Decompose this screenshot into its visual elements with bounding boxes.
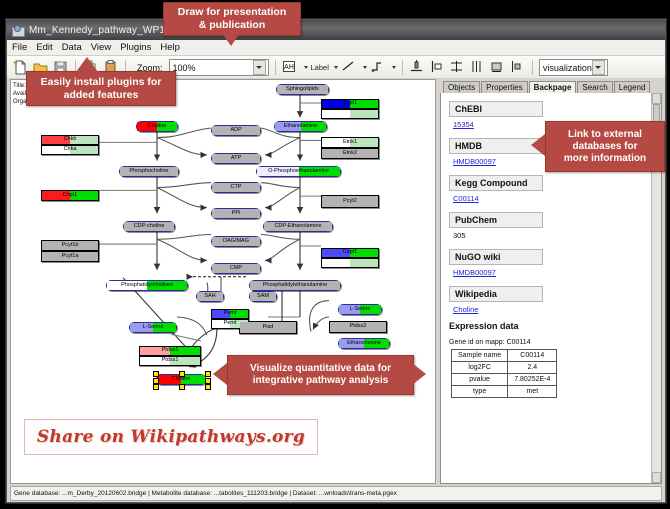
node-label: O-Phosphoethanolamine: [268, 169, 329, 175]
statusbar-text: Gene database: ...m_Derby_20120602.bridg…: [14, 490, 397, 497]
backpage-value: 305: [453, 231, 651, 240]
selection-handle-6[interactable]: [179, 384, 185, 390]
node-label: L-Serine: [143, 325, 164, 331]
gene-node-chkb[interactable]: Chkb: [41, 135, 99, 145]
statusbar: Gene database: ...m_Derby_20120602.bridg…: [7, 485, 665, 502]
selection-handle-3[interactable]: [153, 378, 159, 384]
align-top-icon[interactable]: [409, 59, 426, 76]
metabolite-node-ptd-cholines[interactable]: Phosphatidylcholines: [106, 280, 188, 291]
statusbar-inner: Gene database: ...m_Derby_20120602.bridg…: [10, 486, 662, 501]
metabolite-node-cdp-eth[interactable]: CDP-Ethanolamine: [263, 221, 333, 232]
callout-visualize-arrow: [213, 363, 227, 385]
callout-visualize: Visualize quantitative data for integrat…: [227, 355, 414, 395]
node-label: Chpt1: [63, 193, 78, 199]
expression-value: 7.80252E-4: [508, 374, 557, 386]
chevron-down-icon[interactable]: [363, 66, 367, 69]
backpage-section-pubchem: PubChem305: [449, 210, 651, 240]
callout-visualize-arrow-right: [412, 363, 426, 385]
distribute-vertical-icon[interactable]: [449, 59, 466, 76]
node-label: Sgpl1: [343, 101, 357, 107]
node-label: ADP: [230, 128, 241, 134]
node-half-right: [350, 259, 378, 267]
node-label: Ptdss2: [350, 324, 367, 330]
share-banner-text: Share on Wikipathways.org: [37, 427, 305, 447]
selection-handle-0[interactable]: [153, 371, 159, 377]
metabolite-node-adp[interactable]: ADP: [211, 125, 261, 136]
app-icon: [11, 24, 24, 37]
node-label: PPi: [232, 211, 241, 217]
distribute-horizontal-icon[interactable]: [469, 59, 486, 76]
callout-plugins-arrow: [76, 57, 98, 72]
menu-item-file[interactable]: File: [12, 42, 27, 53]
backpage-section-nugo-wiki: NuGO wikiHMDB00097: [449, 247, 651, 277]
node-label: Ethanolamine: [284, 124, 318, 130]
svg-text:AH: AH: [283, 63, 293, 71]
node-half-left: [322, 259, 350, 267]
callout-draw-arrow: [222, 33, 240, 46]
menu-item-edit[interactable]: Edit: [36, 42, 52, 53]
callout-link-line1: Link to external: [568, 129, 642, 141]
expression-data-heading: Expression data: [449, 321, 651, 331]
metabolite-node-ctp[interactable]: CTP: [211, 182, 261, 193]
chevron-down-icon[interactable]: [304, 66, 308, 69]
metabolite-node-ptd-eth[interactable]: Phosphatidylethanolamine: [249, 280, 341, 291]
node-label: Pemt: [224, 311, 237, 317]
share-banner: Share on Wikipathways.org: [24, 419, 318, 455]
menu-item-help[interactable]: Help: [160, 42, 180, 53]
node-label: CTP: [231, 185, 242, 191]
label-tool-label[interactable]: Label: [311, 63, 329, 72]
metabolite-node-phosphocholine[interactable]: Phosphocholine: [119, 166, 179, 177]
table-row: log2FC2.4: [452, 362, 557, 374]
metabolite-node-cmp[interactable]: CMP: [211, 263, 261, 274]
selection-handle-7[interactable]: [205, 384, 211, 390]
screenshot-root: Mm_Kennedy_pathway_WP1771_45176.gpml Fil…: [0, 0, 670, 509]
menu-item-data[interactable]: Data: [62, 42, 82, 53]
visualization-combo[interactable]: visualization: [539, 59, 608, 76]
gene-node-sgpl1[interactable]: Sgpl1: [321, 99, 379, 109]
gene-node-chka[interactable]: Chka: [41, 145, 99, 155]
node-label: SAH: [204, 294, 215, 300]
selection-handle-2[interactable]: [205, 371, 211, 377]
gene-node-pcyt2[interactable]: Pcyt2: [321, 195, 379, 208]
metabolite-node-sphingolipids[interactable]: Sphingolipids: [276, 84, 329, 95]
toolbar-separator: [532, 60, 533, 75]
node-label: CDP-Ethanolamine: [274, 224, 321, 230]
callout-plugins: Easily install plugins for added feature…: [26, 71, 176, 106]
gene-node-ptdss1[interactable]: Ptdss1: [139, 346, 201, 356]
callout-draw: Draw for presentation & publication: [163, 2, 301, 36]
node-label: Phosphatidylcholines: [121, 283, 173, 289]
chevron-down-icon[interactable]: [592, 60, 605, 75]
table-row: Sample nameC00114: [452, 350, 557, 362]
node-label: L-Serine: [350, 307, 371, 313]
node-label: Pisd: [263, 325, 274, 331]
tab-objects[interactable]: Objects: [443, 81, 480, 93]
gene-node-pcyt1a[interactable]: Pcyt1a: [41, 251, 99, 262]
gene-node-etnk1[interactable]: Etnk1: [321, 137, 379, 148]
expression-key: log2FC: [452, 362, 508, 374]
gene-node-cept1[interactable]: Cept1: [321, 248, 379, 258]
gene-node-pemt[interactable]: Pemt: [211, 309, 249, 319]
node-label: Phosphatidylethanolamine: [263, 283, 328, 289]
backpage-section-kegg-compound: Kegg CompoundC00114: [449, 173, 651, 203]
node-label: Etnk2: [343, 151, 357, 157]
node-label: Pcyt1b: [62, 243, 79, 249]
gene-node-pisd[interactable]: Pisd: [239, 321, 297, 334]
selection-handle-5[interactable]: [153, 384, 159, 390]
chevron-down-icon[interactable]: [392, 66, 396, 69]
gene-node-ptdss2[interactable]: Ptdss2: [329, 321, 387, 333]
callout-link-line2: databases for: [572, 141, 637, 153]
gene-node-sgpl1b[interactable]: [321, 109, 379, 119]
gene-node-ptdss1b[interactable]: Ptdss1: [139, 356, 201, 366]
node-label: Cept1: [343, 250, 358, 256]
metabolite-node-ppi[interactable]: PPi: [211, 208, 261, 219]
node-half-right: [350, 110, 378, 118]
expression-value: 2.4: [508, 362, 557, 374]
callout-plugins-line1: Easily install plugins for: [41, 76, 162, 89]
expression-table: Sample nameC00114log2FC2.4pvalue7.80252E…: [451, 349, 557, 398]
zoom-combo[interactable]: 100%: [169, 59, 269, 76]
side-panel-tabs: ObjectsPropertiesBackpageSearchLegend: [440, 79, 662, 94]
menubar: File Edit Data View Plugins Help: [7, 40, 665, 56]
node-label: Ethanolamine: [347, 341, 381, 347]
backpage-header: Wikipedia: [449, 286, 543, 302]
gene-node-pcyt1b[interactable]: Pcyt1b: [41, 240, 99, 251]
node-half-left: [322, 110, 350, 118]
node-label: Pcyt1a: [62, 254, 79, 260]
metabolite-node-l-serine-1[interactable]: L-Serine: [129, 322, 177, 333]
backpage-link[interactable]: Choline: [453, 305, 651, 314]
tab-search[interactable]: Search: [577, 81, 612, 93]
node-label: CDP-choline: [134, 224, 165, 230]
node-label: Chkb: [64, 137, 77, 143]
expression-value: C00114: [508, 350, 557, 362]
expression-value: met: [508, 386, 557, 398]
menu-item-view[interactable]: View: [91, 42, 111, 53]
group-icon[interactable]: [489, 59, 506, 76]
callout-link: Link to external databases for more info…: [545, 121, 665, 172]
expression-key: pvalue: [452, 374, 508, 386]
expression-key: type: [452, 386, 508, 398]
callout-link-line3: more information: [564, 153, 646, 165]
metabolite-node-atp[interactable]: ATP: [211, 153, 261, 164]
selection-handle-4[interactable]: [205, 378, 211, 384]
backpage-header: HMDB: [449, 138, 543, 154]
node-label: Ptdss1: [162, 358, 179, 364]
callout-plugins-line2: added features: [64, 89, 139, 102]
align-left-icon[interactable]: [429, 59, 446, 76]
toolbar-separator: [402, 60, 403, 75]
node-label: Chka: [64, 147, 77, 153]
callout-link-arrow: [531, 134, 545, 156]
window-titlebar: Mm_Kennedy_pathway_WP1771_45176.gpml: [7, 20, 665, 40]
node-label: Phosphocholine: [129, 169, 168, 175]
table-row: pvalue7.80252E-4: [452, 374, 557, 386]
node-label: Etnk1: [343, 140, 357, 146]
order-icon[interactable]: [509, 59, 526, 76]
line-icon[interactable]: [341, 59, 358, 76]
selection-handle-1[interactable]: [179, 371, 185, 377]
node-label: DAG/MAG: [223, 239, 249, 245]
gene-node-cept1b[interactable]: [321, 258, 379, 268]
connector-icon[interactable]: [370, 59, 387, 76]
gene-id-line: Gene id on mapp: C00114: [449, 339, 651, 346]
metabolite-node-sah[interactable]: SAH: [196, 291, 224, 302]
callout-draw-line2: & publication: [199, 19, 266, 32]
node-label: Choline: [172, 377, 191, 383]
backpage-header: Kegg Compound: [449, 175, 543, 191]
table-row: typemet: [452, 386, 557, 398]
node-label: Choline: [148, 124, 167, 130]
backpage-link[interactable]: HMDB00097: [453, 268, 651, 277]
tab-legend[interactable]: Legend: [614, 81, 651, 93]
callout-visualize-line2: integrative pathway analysis: [253, 375, 389, 387]
callout-visualize-line1: Visualize quantitative data for: [250, 363, 391, 375]
backpage-header: ChEBI: [449, 101, 543, 117]
backpage-header: NuGO wiki: [449, 249, 543, 265]
visualization-value: visualization: [543, 63, 592, 73]
metabolite-node-ethanolamine-1[interactable]: Ethanolamine: [274, 121, 327, 132]
metabolite-node-ethanolamine-2[interactable]: Ethanolamine: [338, 338, 390, 349]
node-label: Pcyt2: [343, 199, 357, 205]
expression-key: Sample name: [452, 350, 508, 362]
node-label: Ptdss1: [162, 348, 179, 354]
metabolite-node-choline-top[interactable]: Choline: [136, 121, 178, 132]
backpage-section-wikipedia: WikipediaCholine: [449, 284, 651, 314]
backpage-link[interactable]: C00114: [453, 194, 651, 203]
scroll-down-button[interactable]: [652, 472, 661, 483]
chevron-down-icon[interactable]: [253, 60, 266, 75]
metabolite-node-dagmag[interactable]: DAG/MAG: [211, 236, 261, 247]
scroll-up-button[interactable]: [652, 93, 661, 104]
metabolite-node-sam[interactable]: SAM: [249, 291, 277, 302]
gene-node-chpt1[interactable]: Chpt1: [41, 190, 99, 201]
chevron-down-icon[interactable]: [334, 66, 338, 69]
font-style-icon[interactable]: AH: [282, 59, 299, 76]
node-label: CMP: [230, 266, 242, 272]
gene-node-etnk2[interactable]: Etnk2: [321, 148, 379, 159]
metabolite-node-cdp-choline[interactable]: CDP-choline: [123, 221, 175, 232]
node-label: Sphingolipids: [286, 87, 319, 93]
callout-draw-line1: Draw for presentation: [178, 6, 287, 19]
node-label: Pemt: [224, 321, 237, 327]
node-label: ATP: [231, 156, 241, 162]
metabolite-node-o-phospho-eth[interactable]: O-Phosphoethanolamine: [256, 166, 341, 177]
node-label: SAM: [257, 294, 269, 300]
backpage-header: PubChem: [449, 212, 543, 228]
menu-item-plugins[interactable]: Plugins: [120, 42, 151, 53]
toolbar-separator: [275, 60, 276, 75]
metabolite-node-l-serine-2[interactable]: L-Serine: [338, 304, 382, 315]
tab-properties[interactable]: Properties: [481, 81, 527, 93]
